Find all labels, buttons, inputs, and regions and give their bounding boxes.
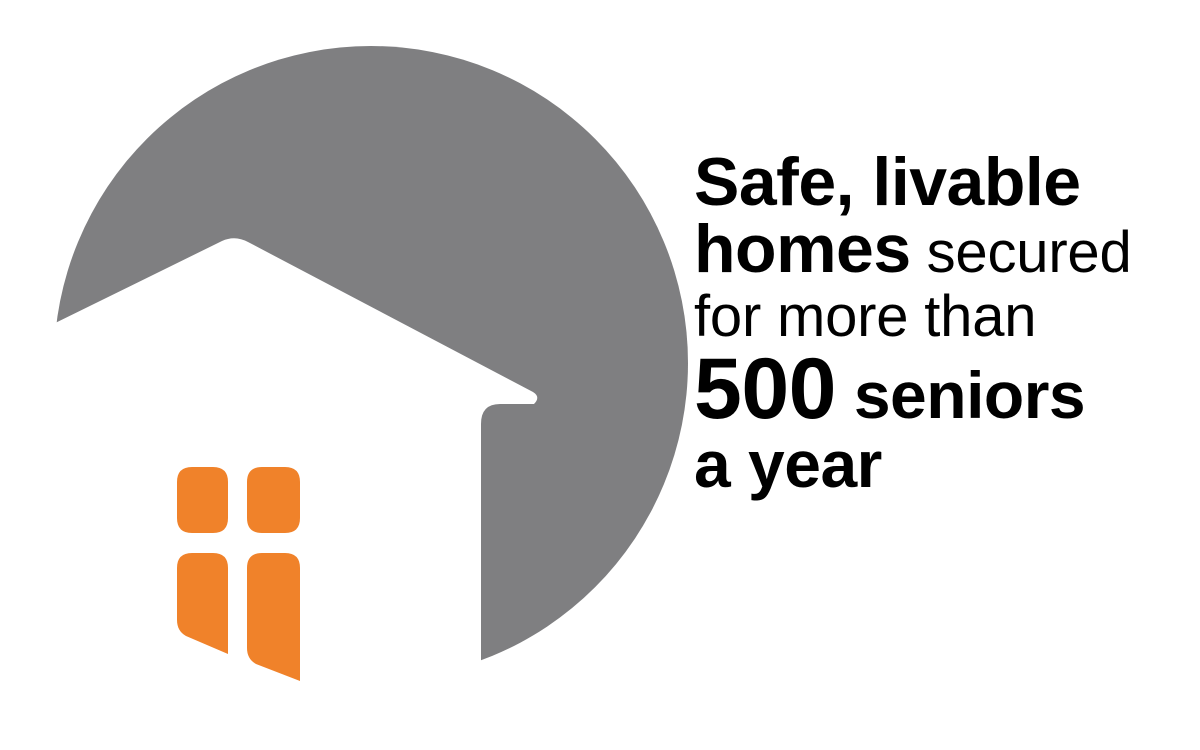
infographic-canvas: Safe, livable homes secured for more tha… bbox=[0, 0, 1200, 750]
headline-metric-word: seniors bbox=[836, 358, 1085, 432]
headline-line-2: homes secured bbox=[694, 217, 1194, 282]
headline-line-3-text: for more than bbox=[694, 284, 1036, 349]
headline-line-5: a year bbox=[694, 433, 1194, 496]
headline-block: Safe, livable homes secured for more tha… bbox=[694, 150, 1194, 496]
headline-line-1: Safe, livable bbox=[694, 150, 1194, 215]
headline-line-1-text: Safe, livable bbox=[694, 144, 1081, 220]
gray-circle bbox=[54, 46, 688, 680]
headline-line-2-bold-text: homes bbox=[694, 211, 911, 287]
headline-metric-number: 500 bbox=[694, 341, 836, 437]
headline-line-5-text: a year bbox=[694, 427, 882, 501]
window-pane-top-right bbox=[247, 467, 300, 533]
headline-line-4: 500 seniors bbox=[694, 348, 1194, 431]
headline-line-3: for more than bbox=[694, 289, 1194, 345]
headline-line-2-light-text: secured bbox=[911, 220, 1132, 285]
logo-area bbox=[0, 0, 690, 750]
window-pane-bottom-right bbox=[247, 553, 300, 681]
house-in-circle-logo bbox=[0, 0, 690, 750]
window-pane-bottom-left bbox=[177, 553, 228, 654]
window-pane-top-left bbox=[177, 467, 228, 533]
